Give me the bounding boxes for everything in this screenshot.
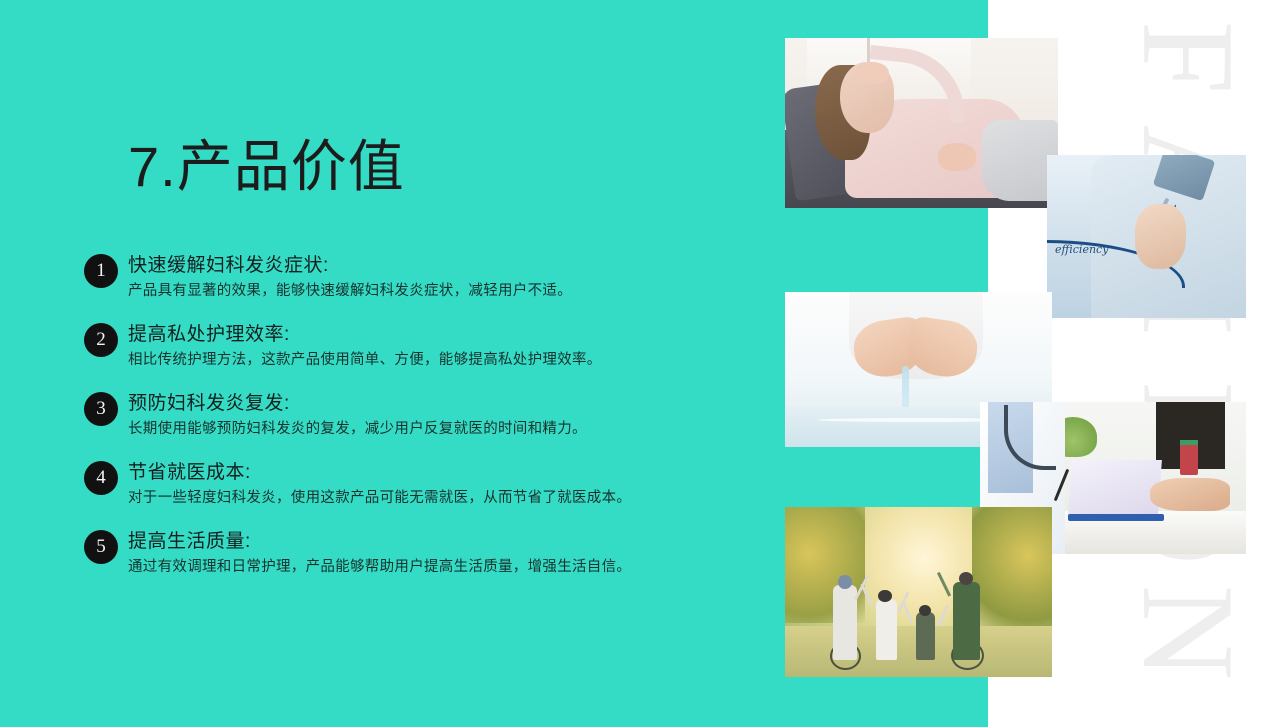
photo-efficiency-chart: efficiency [1047,155,1246,318]
item-description: 长期使用能够预防妇科发炎的复发，减少用户反复就医的时间和精力。 [128,420,704,440]
item-description: 相比传统护理方法，这款产品使用简单、方便，能够提高私处护理效率。 [128,351,704,371]
slide-canvas: F A H I O N 7.产品价值 1 快速缓解妇科发炎症状: 产品具有显著的… [0,0,1288,727]
item-description: 对于一些轻度妇科发炎，使用这款产品可能无需就医，从而节省了就医成本。 [128,489,704,509]
list-item: 1 快速缓解妇科发炎症状: 产品具有显著的效果，能够快速缓解妇科发炎症状，减轻用… [84,254,704,302]
list-item: 4 节省就医成本: 对于一些轻度妇科发炎，使用这款产品可能无需就医，从而节省了就… [84,461,704,509]
item-heading: 节省就医成本: [128,461,704,485]
value-list: 1 快速缓解妇科发炎症状: 产品具有显著的效果，能够快速缓解妇科发炎症状，减轻用… [84,252,704,577]
list-item: 3 预防妇科发炎复发: 长期使用能够预防妇科发炎的复发，减少用户反复就医的时间和… [84,392,704,440]
photo-woman-resting [785,38,1058,208]
photo-family-sunset [785,507,1052,677]
list-item: 5 提高生活质量: 通过有效调理和日常护理，产品能够帮助用户提高生活质量，增强生… [84,530,704,578]
item-number-badge: 5 [84,530,118,564]
item-number-badge: 1 [84,254,118,288]
efficiency-label: efficiency [1055,243,1108,256]
list-item: 2 提高私处护理效率: 相比传统护理方法，这款产品使用简单、方便，能够提高私处护… [84,323,704,371]
item-number-badge: 4 [84,461,118,495]
page-title: 7.产品价值 [128,136,405,198]
item-description: 通过有效调理和日常护理，产品能够帮助用户提高生活质量，增强生活自信。 [128,558,704,578]
item-heading: 预防妇科发炎复发: [128,392,704,416]
item-heading: 提高私处护理效率: [128,323,704,347]
item-heading: 提高生活质量: [128,530,704,554]
item-heading: 快速缓解妇科发炎症状: [128,254,704,278]
item-number-badge: 3 [84,392,118,426]
item-description: 产品具有显著的效果，能够快速缓解妇科发炎症状，减轻用户不适。 [128,282,704,302]
item-number-badge: 2 [84,323,118,357]
